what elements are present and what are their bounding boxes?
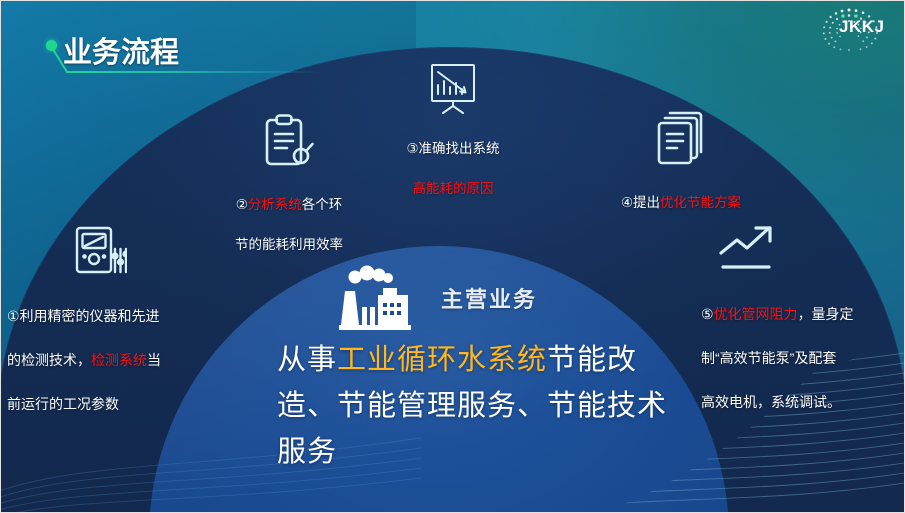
declining-chart-board-icon xyxy=(427,63,479,115)
step-5-line-2: 制“高效节能泵”及配套 xyxy=(701,350,836,366)
step-1-line-2a: 的检测技术， xyxy=(7,352,91,368)
brand-logo: JKKJ xyxy=(812,5,886,53)
measuring-instrument-icon xyxy=(75,225,127,279)
step-5-prefix: ⑤ xyxy=(701,306,714,322)
slide-canvas: JKKJ 业务流程 xyxy=(0,0,905,513)
logo-text: JKKJ xyxy=(839,17,884,37)
description-highlight: 工业循环水系统 xyxy=(337,344,547,376)
process-step-5: ⑤优化管网阻力，量身定 制“高效节能泵”及配套 高效电机，系统调试。 xyxy=(701,223,901,413)
process-step-3: ③准确找出系统 高能耗的原因 xyxy=(353,63,553,199)
step-1-line-1: ①利用精密的仪器和先进 xyxy=(7,308,160,324)
upward-trend-arrow-icon xyxy=(717,223,787,277)
step-1-caption: ①利用精密的仪器和先进 的检测技术，检测系统当 前运行的工况参数 xyxy=(7,283,247,415)
step-1-line-3: 前运行的工况参数 xyxy=(7,396,119,412)
step-2-prefix: ② xyxy=(236,197,248,212)
factory-icon xyxy=(331,263,427,333)
step-1-highlight: 检测系统 xyxy=(91,352,147,368)
main-business-description: 从事工业循环水系统节能改造、节能管理服务、节能技术服务 xyxy=(277,337,677,475)
step-3-highlight: 高能耗的原因 xyxy=(413,181,494,196)
title-text: 业务流程 xyxy=(63,29,179,71)
step-5-line-3: 高效电机，系统调试。 xyxy=(701,394,841,410)
step-5-suffix: ，量身定 xyxy=(798,306,854,322)
title-accent-dot xyxy=(46,40,57,51)
main-business-header: 主营业务 xyxy=(331,263,671,333)
description-part-1: 从事 xyxy=(277,344,337,376)
clipboard-search-icon xyxy=(261,113,317,171)
step-4-prefix: ④提出 xyxy=(621,195,660,210)
step-3-caption: ③准确找出系统 高能耗的原因 xyxy=(353,119,553,199)
step-3-line-1: ③准确找出系统 xyxy=(406,141,499,156)
step-2-suffix: 各个环 xyxy=(302,197,343,212)
stacked-documents-icon xyxy=(656,109,706,167)
main-business-label: 主营业务 xyxy=(441,282,537,314)
step-4-highlight: 优化节能方案 xyxy=(660,195,741,210)
step-2-line-2: 节的能耗利用效率 xyxy=(235,237,343,252)
step-1-line-2b: 当 xyxy=(147,352,161,368)
step-5-highlight: 优化管网阻力 xyxy=(714,306,798,322)
step-2-highlight: 分析系统 xyxy=(248,197,302,212)
step-5-caption: ⑤优化管网阻力，量身定 制“高效节能泵”及配套 高效电机，系统调试。 xyxy=(701,281,901,413)
process-step-4: ④提出优化节能方案 xyxy=(571,109,791,213)
step-4-caption: ④提出优化节能方案 xyxy=(571,173,791,213)
